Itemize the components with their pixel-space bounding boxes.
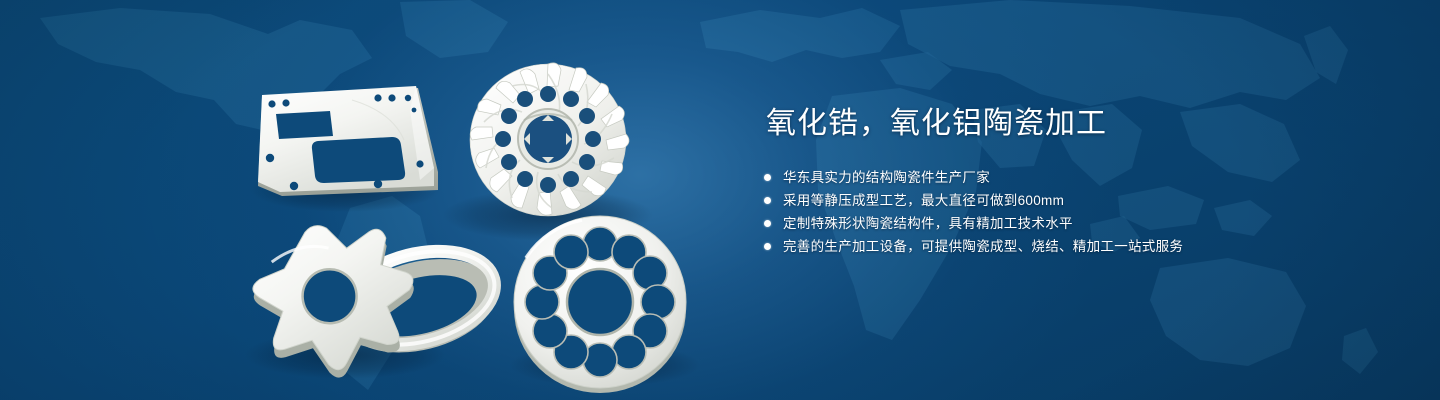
list-item-label: 采用等静压成型工艺，最大直径可做到600mm — [783, 189, 1064, 212]
page-title: 氧化锆，氧化铝陶瓷加工 — [766, 104, 1384, 144]
ceramic-perforated-disc — [514, 216, 686, 393]
banner-text-column: 氧化锆，氧化铝陶瓷加工 华东具实力的结构陶瓷件生产厂家 采用等静压成型工艺，最大… — [764, 104, 1384, 258]
hero-banner: 氧化锆，氧化铝陶瓷加工 华东具实力的结构陶瓷件生产厂家 采用等静压成型工艺，最大… — [0, 0, 1440, 400]
list-item: 完善的生产加工设备，可提供陶瓷成型、烧结、精加工一站式服务 — [764, 235, 1384, 258]
list-item: 采用等静压成型工艺，最大直径可做到600mm — [764, 189, 1384, 212]
bullet-dot-icon — [764, 243, 771, 250]
list-item: 定制特殊形状陶瓷结构件，具有精加工技术水平 — [764, 212, 1384, 235]
ceramic-plate — [258, 86, 438, 196]
list-item-label: 定制特殊形状陶瓷结构件，具有精加工技术水平 — [783, 212, 1073, 235]
list-item: 华东具实力的结构陶瓷件生产厂家 — [764, 166, 1384, 189]
bullet-dot-icon — [764, 220, 771, 227]
bullet-dot-icon — [764, 197, 771, 204]
list-item-label: 完善的生产加工设备，可提供陶瓷成型、烧结、精加工一站式服务 — [783, 235, 1183, 258]
ceramic-impeller — [470, 63, 629, 216]
list-item-label: 华东具实力的结构陶瓷件生产厂家 — [783, 166, 990, 189]
bullet-dot-icon — [764, 174, 771, 181]
ceramic-parts-photo — [0, 0, 740, 400]
feature-list: 华东具实力的结构陶瓷件生产厂家 采用等静压成型工艺，最大直径可做到600mm 定… — [764, 166, 1384, 258]
